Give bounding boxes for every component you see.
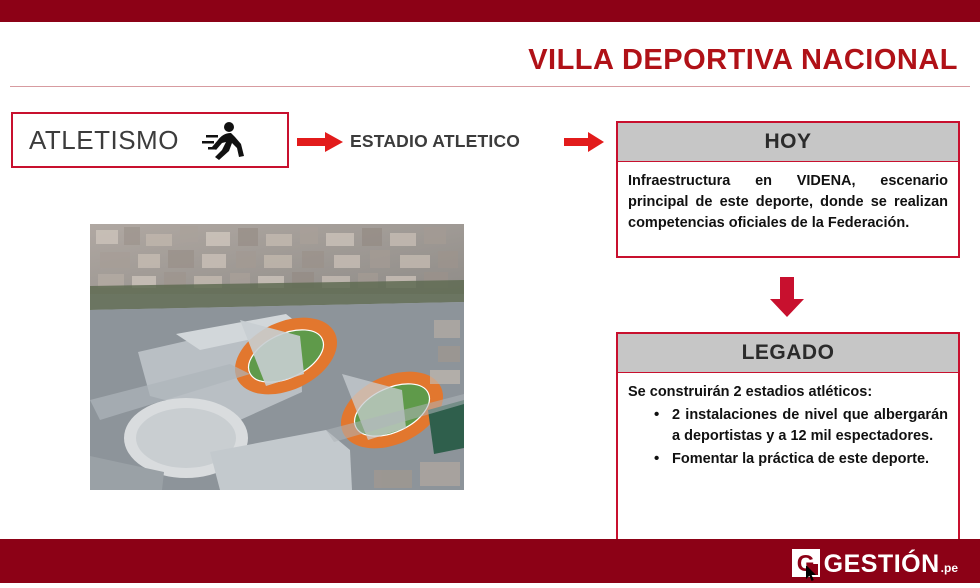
sport-card: ATLETISMO	[11, 112, 289, 168]
page-title: VILLA DEPORTIVA NACIONAL	[528, 44, 958, 77]
top-banner-bar	[0, 0, 980, 22]
logo-wordmark: GESTIÓN	[824, 552, 940, 577]
arrow-down-icon	[770, 277, 804, 317]
title-divider	[10, 86, 970, 87]
list-item: 2 instalaciones de nivel que albergarán …	[628, 405, 948, 447]
panel-hoy: HOY Infraestructura en VIDENA, escenario…	[616, 121, 960, 258]
panel-hoy-heading: HOY	[616, 121, 960, 161]
sport-label: ATLETISMO	[29, 125, 179, 156]
panel-hoy-body: Infraestructura en VIDENA, escenario pri…	[616, 161, 960, 258]
aerial-photo	[90, 224, 464, 490]
panel-legado-body: Se construirán 2 estadios atléticos: 2 i…	[616, 372, 960, 562]
arrow-right-icon	[297, 132, 343, 152]
runner-icon	[201, 120, 247, 160]
logo-domain-suffix: .pe	[941, 561, 958, 575]
mouse-cursor	[806, 565, 818, 583]
list-item: Fomentar la práctica de este deporte.	[628, 449, 948, 470]
arrow-right-icon-2	[564, 132, 604, 152]
panel-legado: LEGADO Se construirán 2 estadios atlétic…	[616, 332, 960, 562]
stage-label: ESTADIO ATLETICO	[350, 131, 520, 152]
panel-legado-lead: Se construirán 2 estadios atléticos:	[628, 382, 948, 403]
panel-legado-heading: LEGADO	[616, 332, 960, 372]
panel-legado-list: 2 instalaciones de nivel que albergarán …	[628, 405, 948, 470]
